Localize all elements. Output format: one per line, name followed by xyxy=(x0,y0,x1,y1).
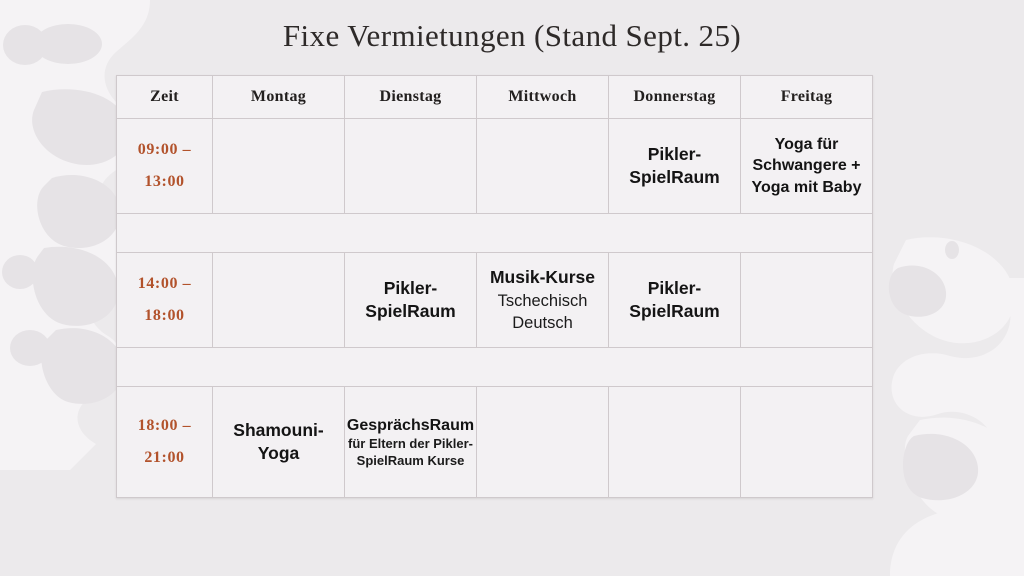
time-slot-morning: 09:00 – 13:00 xyxy=(117,119,213,214)
event-title: Pikler- xyxy=(609,143,740,166)
cell-donnerstag-evening xyxy=(609,387,741,498)
cell-dienstag-morning xyxy=(345,119,477,214)
time-end: 21:00 xyxy=(117,442,212,474)
blob-group-right-inner xyxy=(889,241,978,500)
spacer-row xyxy=(117,348,873,387)
column-header-zeit: Zeit xyxy=(117,76,213,119)
column-header-freitag: Freitag xyxy=(741,76,873,119)
header-row: Zeit Montag Dienstag Mittwoch Donnerstag… xyxy=(117,76,873,119)
cell-donnerstag-morning: Pikler- SpielRaum xyxy=(609,119,741,214)
event-title-line3: Yoga mit Baby xyxy=(741,177,872,198)
event-title: Shamouni- xyxy=(213,419,344,442)
event-note: für Eltern der Pikler- xyxy=(345,436,476,452)
column-header-mittwoch: Mittwoch xyxy=(477,76,609,119)
event-title-line2: SpielRaum xyxy=(345,300,476,323)
time-slot-afternoon: 14:00 – 18:00 xyxy=(117,253,213,348)
cell-mittwoch-evening xyxy=(477,387,609,498)
time-end: 13:00 xyxy=(117,166,212,198)
event-subtitle-b: Deutsch xyxy=(477,312,608,334)
spacer-cell xyxy=(117,348,873,387)
spacer-row xyxy=(117,214,873,253)
cell-mittwoch-morning xyxy=(477,119,609,214)
table-header: Zeit Montag Dienstag Mittwoch Donnerstag… xyxy=(117,76,873,119)
cell-montag-afternoon xyxy=(213,253,345,348)
column-header-dienstag: Dienstag xyxy=(345,76,477,119)
event-title: Pikler- xyxy=(609,277,740,300)
column-header-donnerstag: Donnerstag xyxy=(609,76,741,119)
event-subtitle: Tschechisch xyxy=(477,290,608,312)
cell-mittwoch-afternoon: Musik-Kurse Tschechisch Deutsch xyxy=(477,253,609,348)
event-title-line2: Yoga xyxy=(213,442,344,465)
table-row: 18:00 – 21:00 Shamouni- Yoga GesprächsRa… xyxy=(117,387,873,498)
cell-dienstag-evening: GesprächsRaum für Eltern der Pikler- Spi… xyxy=(345,387,477,498)
cell-freitag-evening xyxy=(741,387,873,498)
cell-dienstag-afternoon: Pikler- SpielRaum xyxy=(345,253,477,348)
event-title: GesprächsRaum xyxy=(345,415,476,436)
cell-freitag-morning: Yoga für Schwangere + Yoga mit Baby xyxy=(741,119,873,214)
spacer-cell xyxy=(117,214,873,253)
event-title-line2: Schwangere + xyxy=(741,155,872,176)
time-start: 18:00 – xyxy=(117,410,212,442)
time-start: 14:00 – xyxy=(117,268,212,300)
schedule-table: Zeit Montag Dienstag Mittwoch Donnerstag… xyxy=(116,75,873,498)
table-row: 14:00 – 18:00 Pikler- SpielRaum Musik-Ku… xyxy=(117,253,873,348)
event-title-line2: SpielRaum xyxy=(609,300,740,323)
table-row: 09:00 – 13:00 Pikler- SpielRaum Yoga xyxy=(117,119,873,214)
page-title: Fixe Vermietungen (Stand Sept. 25) xyxy=(0,18,1024,54)
event-title: Musik-Kurse xyxy=(477,266,608,289)
event-note-line2: SpielRaum Kurse xyxy=(345,453,476,469)
time-end: 18:00 xyxy=(117,300,212,332)
blob-group-left-inner xyxy=(2,24,128,404)
event-title: Pikler- xyxy=(345,277,476,300)
event-title-line2: SpielRaum xyxy=(609,166,740,189)
blob-group-right xyxy=(890,237,1024,576)
event-title: Yoga für xyxy=(741,134,872,155)
cell-donnerstag-afternoon: Pikler- SpielRaum xyxy=(609,253,741,348)
column-header-montag: Montag xyxy=(213,76,345,119)
time-slot-evening: 18:00 – 21:00 xyxy=(117,387,213,498)
cell-freitag-afternoon xyxy=(741,253,873,348)
cell-montag-evening: Shamouni- Yoga xyxy=(213,387,345,498)
time-start: 09:00 – xyxy=(117,134,212,166)
cell-montag-morning xyxy=(213,119,345,214)
table-body: 09:00 – 13:00 Pikler- SpielRaum Yoga xyxy=(117,119,873,498)
schedule-table-container: Zeit Montag Dienstag Mittwoch Donnerstag… xyxy=(116,75,872,498)
